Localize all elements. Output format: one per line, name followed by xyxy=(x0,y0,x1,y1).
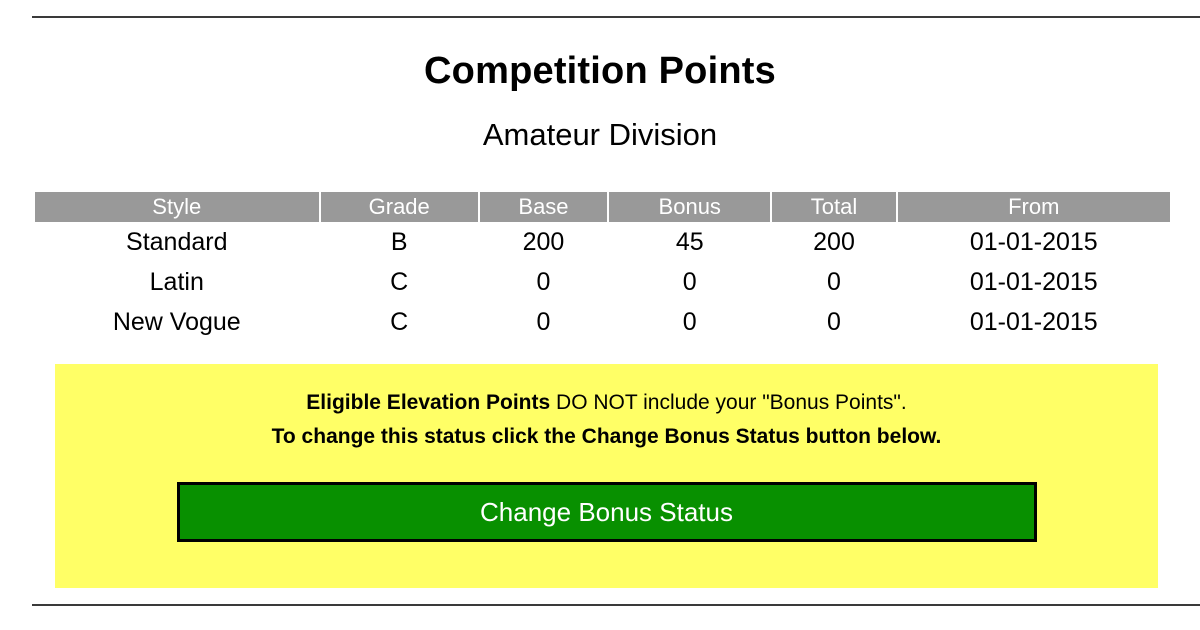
cell-bonus: 0 xyxy=(609,262,770,302)
notice-line-2-strong: Change Bonus Status xyxy=(582,425,800,448)
competition-points-table: Style Grade Base Bonus Total From Standa… xyxy=(33,192,1172,342)
notice-line-1-strong: Eligible Elevation Points xyxy=(306,391,550,414)
column-header-grade: Grade xyxy=(321,192,478,222)
cell-style: New Vogue xyxy=(35,302,319,342)
table-row: Standard B 200 45 200 01-01-2015 xyxy=(35,222,1170,262)
notice-line-1-rest: DO NOT include your "Bonus Points". xyxy=(550,391,907,414)
table-row: Latin C 0 0 0 01-01-2015 xyxy=(35,262,1170,302)
cell-total: 200 xyxy=(772,222,895,262)
notice-line-2-prefix: To change this status click the xyxy=(272,425,582,448)
cell-total: 0 xyxy=(772,262,895,302)
cell-grade: C xyxy=(321,302,478,342)
cell-grade: B xyxy=(321,222,478,262)
column-header-style: Style xyxy=(35,192,319,222)
notice-line-1: Eligible Elevation Points DO NOT include… xyxy=(55,388,1158,418)
column-header-total: Total xyxy=(772,192,895,222)
table-header-row: Style Grade Base Bonus Total From xyxy=(35,192,1170,222)
page-title: Competition Points xyxy=(0,48,1200,94)
cell-from: 01-01-2015 xyxy=(898,262,1170,302)
column-header-base: Base xyxy=(480,192,607,222)
top-divider xyxy=(32,16,1200,18)
change-bonus-status-button[interactable]: Change Bonus Status xyxy=(177,482,1037,542)
notice-line-2: To change this status click the Change B… xyxy=(55,422,1158,452)
competition-points-page: Competition Points Amateur Division Styl… xyxy=(0,0,1200,630)
cell-style: Standard xyxy=(35,222,319,262)
cell-from: 01-01-2015 xyxy=(898,222,1170,262)
cell-base: 200 xyxy=(480,222,607,262)
cell-style: Latin xyxy=(35,262,319,302)
table-row: New Vogue C 0 0 0 01-01-2015 xyxy=(35,302,1170,342)
notice-line-2-suffix: button below. xyxy=(800,425,942,448)
cell-bonus: 45 xyxy=(609,222,770,262)
button-container: Change Bonus Status xyxy=(55,482,1158,542)
cell-from: 01-01-2015 xyxy=(898,302,1170,342)
cell-grade: C xyxy=(321,262,478,302)
cell-base: 0 xyxy=(480,262,607,302)
page-subtitle: Amateur Division xyxy=(0,115,1200,155)
column-header-from: From xyxy=(898,192,1170,222)
bonus-status-notice-panel: Eligible Elevation Points DO NOT include… xyxy=(55,364,1158,588)
column-header-bonus: Bonus xyxy=(609,192,770,222)
bottom-divider xyxy=(32,604,1200,606)
cell-total: 0 xyxy=(772,302,895,342)
cell-bonus: 0 xyxy=(609,302,770,342)
cell-base: 0 xyxy=(480,302,607,342)
